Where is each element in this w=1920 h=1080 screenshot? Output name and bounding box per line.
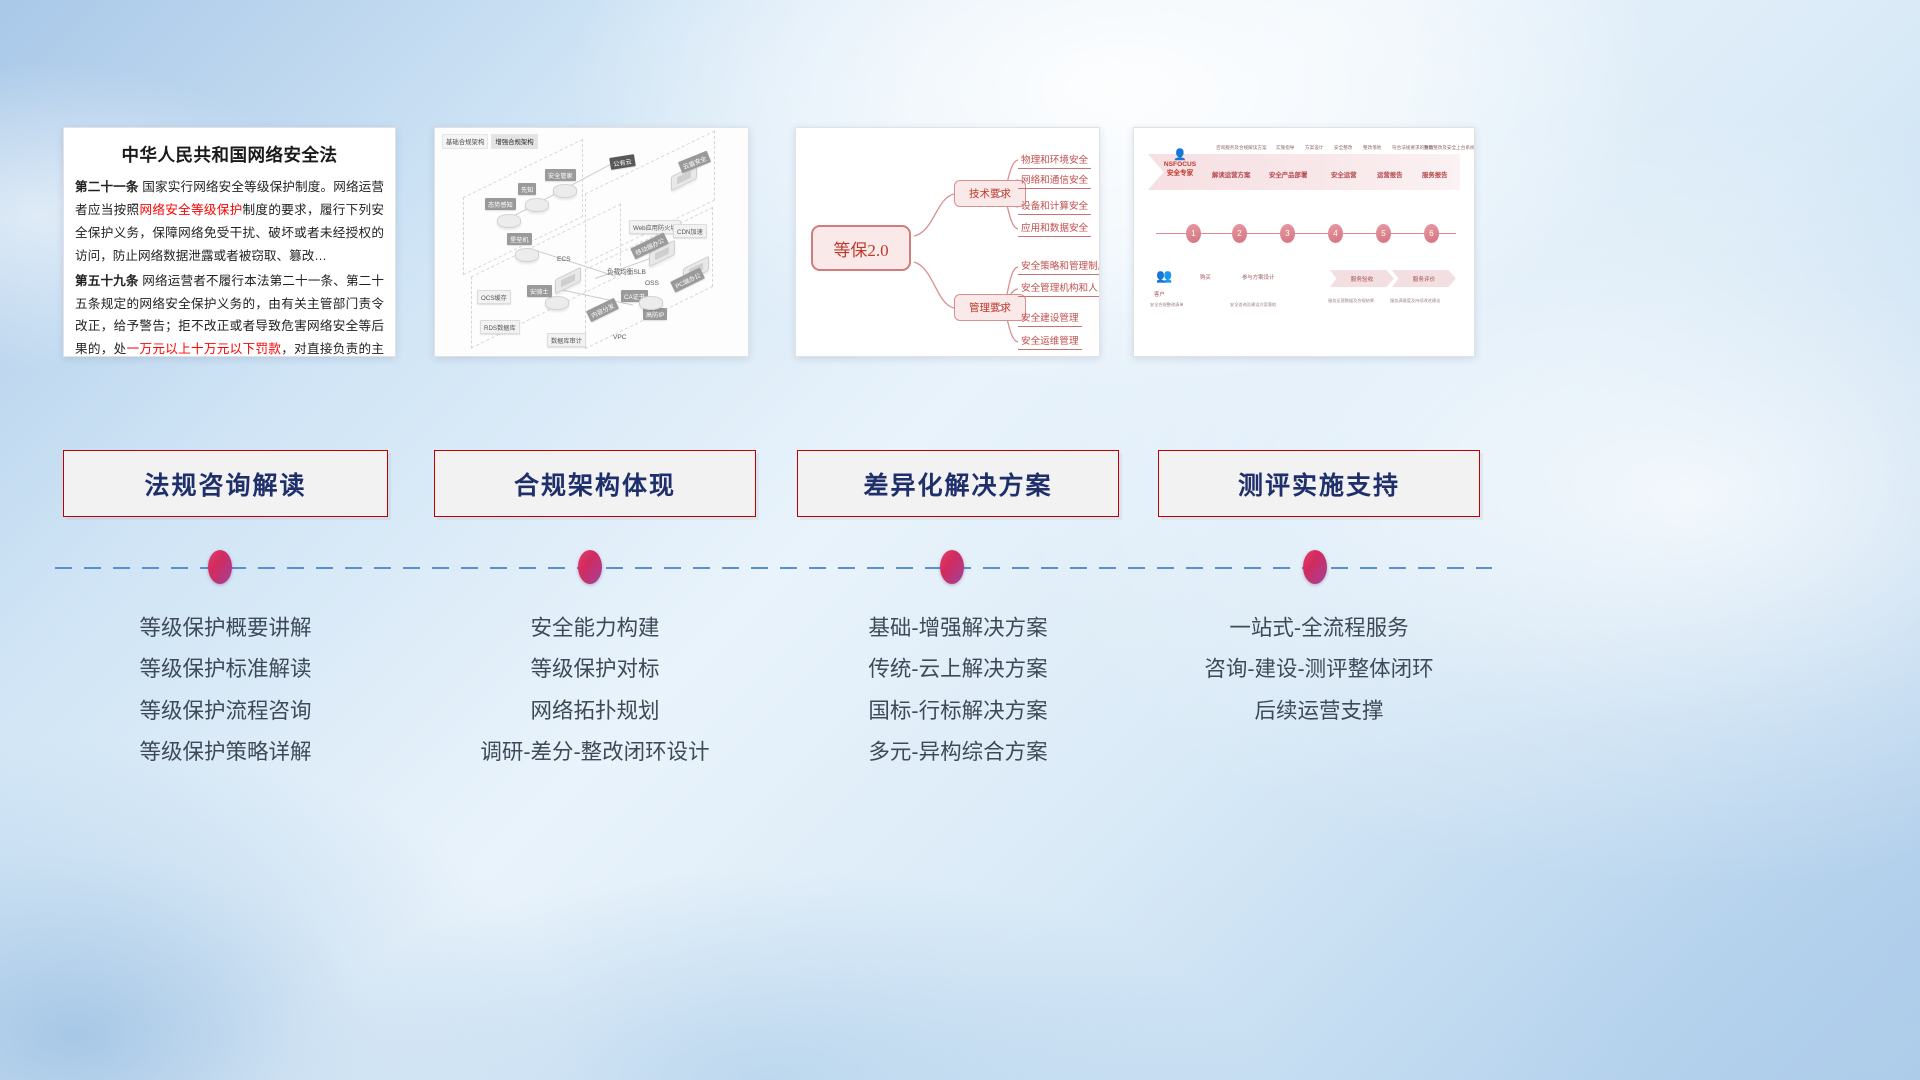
roadmap-bottom-sub-2: 安全咨询及建设方案落地 bbox=[1230, 302, 1276, 308]
law-body: 第二十一条 国家实行网络安全等级保护制度。网络运营者应当按照网络安全等级保护制度… bbox=[64, 176, 395, 357]
card-mindmap-dengbao[interactable]: 等保2.0 技术要求 管理要求 物理和环境安全 网络和通信安全 设备和计算安全 … bbox=[795, 127, 1100, 357]
mindmap-leaf-physical-env: 物理和环境安全 bbox=[1018, 152, 1091, 169]
title-box-differentiated-solution[interactable]: 差异化解决方案 bbox=[797, 450, 1119, 517]
roadmap-top-label-7: 数据整改及安全上台系统集成整改 bbox=[1424, 145, 1475, 151]
mindmap-leaf-construction: 安全建设管理 bbox=[1018, 310, 1082, 327]
person-icon: 👤 bbox=[1156, 150, 1204, 161]
roadmap-top-label-5: 整改落地 bbox=[1363, 145, 1381, 151]
roadmap-axis bbox=[1156, 233, 1456, 234]
mindmap-leaf-device-compute: 设备和计算安全 bbox=[1018, 198, 1091, 215]
iso-label-db-audit: 数据库审计 bbox=[547, 333, 586, 347]
mindmap-diagram: 等保2.0 技术要求 管理要求 物理和环境安全 网络和通信安全 设备和计算安全 … bbox=[796, 128, 1099, 356]
list-item: 调研-差分-整改闭环设计 bbox=[434, 732, 756, 773]
timeline-node-3[interactable] bbox=[940, 550, 964, 584]
mindmap-leaf-app-data: 应用和数据安全 bbox=[1018, 220, 1091, 237]
iso-label-situational-awareness: 态势感知 bbox=[485, 198, 516, 210]
law-article-59: 第五十九条 网络运营者不履行本法第二十一条、第二十五条规定的网络安全保护义务的，… bbox=[75, 270, 384, 357]
roadmap-bottom-sub-4: 服务满意度及持续改进建议 bbox=[1390, 298, 1440, 304]
iso-label-xianzhi: 先知 bbox=[518, 183, 536, 195]
roadmap-client-label: 客户 bbox=[1154, 290, 1165, 298]
architecture-diagram: 基础合规架构 增强合规架构 公有云 安全管家 先知 态势感知 堡垒机 bbox=[435, 128, 748, 356]
law-title: 中华人民共和国网络安全法 bbox=[64, 142, 395, 167]
roadmap-top-label-3: 方案设计 bbox=[1305, 145, 1323, 151]
timeline-node-2[interactable] bbox=[578, 550, 602, 584]
mindmap-dot-management bbox=[997, 305, 1003, 311]
roadmap-bottom-label-1: 购买 bbox=[1200, 273, 1211, 281]
iso-shape-situational-awareness bbox=[497, 214, 521, 228]
iso-label-bastion: 堡垒机 bbox=[507, 233, 532, 245]
roadmap-brand: 👤 NSFOCUS 安全专家 bbox=[1156, 150, 1204, 179]
title-box-label-1: 法规咨询解读 bbox=[144, 466, 306, 502]
iso-label-ecs: ECS bbox=[557, 256, 571, 263]
roadmap-step-4[interactable]: 4 bbox=[1328, 224, 1343, 243]
roadmap-chevron-2[interactable]: 服务评价 bbox=[1392, 270, 1456, 287]
roadmap-col-title-2: 安全产品部署 bbox=[1269, 170, 1307, 179]
law-article-21: 第二十一条 国家实行网络安全等级保护制度。网络运营者应当按照网络安全等级保护制度… bbox=[75, 176, 384, 268]
law-article-21-highlight: 网络安全等级保护 bbox=[139, 203, 242, 217]
roadmap-diagram: 👤 NSFOCUS 安全专家 咨询服务及合规解读方案 实施指导 方案设计 安全整… bbox=[1134, 128, 1474, 356]
mindmap-leaf-policy-system: 安全策略和管理制度 bbox=[1018, 258, 1100, 275]
roadmap-top-label-2: 实施指导 bbox=[1276, 145, 1294, 151]
timeline-node-4[interactable] bbox=[1303, 550, 1327, 584]
iso-shape-bastion bbox=[515, 248, 539, 262]
roadmap-col-title-3: 安全运营 bbox=[1331, 170, 1357, 179]
mindmap-branch-technical[interactable]: 技术要求 bbox=[954, 180, 1026, 207]
list-item: 等级保护流程咨询 bbox=[63, 691, 388, 732]
law-article-59-label: 第五十九条 bbox=[75, 274, 139, 288]
list-item: 等级保护标准解读 bbox=[63, 649, 388, 690]
title-box-label-4: 测评实施支持 bbox=[1238, 466, 1400, 502]
roadmap-bottom-sub-3: 服务运营数据及合规结果 bbox=[1328, 298, 1374, 304]
list-item: 等级保护策略详解 bbox=[63, 732, 388, 773]
mindmap-branch-management[interactable]: 管理要求 bbox=[954, 294, 1026, 321]
list-item: 一站式-全流程服务 bbox=[1158, 608, 1480, 649]
client-icon: 👥 bbox=[1156, 268, 1172, 284]
list-item: 等级保护概要讲解 bbox=[63, 608, 388, 649]
iso-label-high-defense-ip: 高防IP bbox=[643, 308, 667, 320]
iso-label-rds-db: RDS数据库 bbox=[480, 320, 520, 334]
roadmap-bottom-sub-1: 安全合规整改清单 bbox=[1150, 302, 1184, 308]
list-item: 基础-增强解决方案 bbox=[797, 608, 1119, 649]
iso-label-cdn-accel: CDN加速 bbox=[673, 224, 707, 238]
card-nsfocus-roadmap[interactable]: 👤 NSFOCUS 安全专家 咨询服务及合规解读方案 实施指导 方案设计 安全整… bbox=[1133, 127, 1475, 357]
roadmap-bottom-label-2: 参与方案设计 bbox=[1242, 273, 1274, 281]
mindmap-dot-technical bbox=[997, 191, 1003, 197]
title-box-regulation-consulting[interactable]: 法规咨询解读 bbox=[63, 450, 388, 517]
iso-shape-security-butler bbox=[553, 184, 577, 198]
iso-label-security-butler: 安全管家 bbox=[545, 169, 576, 181]
mindmap-root-node[interactable]: 等保2.0 bbox=[811, 225, 911, 271]
list-item: 国标-行标解决方案 bbox=[797, 691, 1119, 732]
list-item: 多元-异构综合方案 bbox=[797, 732, 1119, 773]
list-item: 后续运营支撑 bbox=[1158, 691, 1480, 732]
title-box-compliance-architecture[interactable]: 合规架构体现 bbox=[434, 450, 756, 517]
roadmap-step-3[interactable]: 3 bbox=[1280, 224, 1295, 243]
roadmap-top-label-1: 咨询服务及合规解读方案 bbox=[1216, 145, 1267, 151]
roadmap-col-title-5: 服务报告 bbox=[1422, 170, 1448, 179]
roadmap-col-title-1: 解读运营方案 bbox=[1212, 170, 1250, 179]
card-compliance-architecture[interactable]: 基础合规架构 增强合规架构 公有云 安全管家 先知 态势感知 堡垒机 bbox=[434, 127, 749, 357]
iso-shape-agent bbox=[545, 296, 569, 310]
iso-shape-oss bbox=[639, 296, 663, 310]
column-list-2: 安全能力构建 等级保护对标 网络拓扑规划 调研-差分-整改闭环设计 bbox=[434, 608, 756, 773]
roadmap-brand-line1: NSFOCUS bbox=[1156, 161, 1204, 170]
list-item: 等级保护对标 bbox=[434, 649, 756, 690]
roadmap-step-2[interactable]: 2 bbox=[1232, 224, 1247, 243]
column-list-4: 一站式-全流程服务 咨询-建设-测评整体闭环 后续运营支撑 bbox=[1158, 608, 1480, 732]
iso-label-slb: 负载均衡SLB bbox=[607, 266, 646, 276]
list-item: 传统-云上解决方案 bbox=[797, 649, 1119, 690]
law-article-59-highlight-1: 一万元以上十万元以下罚款 bbox=[127, 342, 282, 356]
architecture-tab-basic[interactable]: 基础合规架构 bbox=[442, 134, 488, 149]
roadmap-step-5[interactable]: 5 bbox=[1376, 224, 1391, 243]
iso-label-ocs-cache: OCS缓存 bbox=[477, 290, 511, 304]
timeline-node-1[interactable] bbox=[208, 550, 232, 584]
column-list-3: 基础-增强解决方案 传统-云上解决方案 国标-行标解决方案 多元-异构综合方案 bbox=[797, 608, 1119, 773]
title-box-label-3: 差异化解决方案 bbox=[863, 466, 1052, 502]
title-box-label-2: 合规架构体现 bbox=[514, 466, 676, 502]
iso-label-agent: 安骑士 bbox=[527, 285, 552, 297]
list-item: 网络拓扑规划 bbox=[434, 691, 756, 732]
law-article-21-label: 第二十一条 bbox=[75, 180, 139, 194]
iso-shape-xianzhi bbox=[525, 198, 549, 212]
card-cybersecurity-law[interactable]: 中华人民共和国网络安全法 第二十一条 国家实行网络安全等级保护制度。网络运营者应… bbox=[63, 127, 396, 357]
roadmap-brand-line2: 安全专家 bbox=[1156, 170, 1204, 179]
mindmap-leaf-network-comm: 网络和通信安全 bbox=[1018, 172, 1091, 189]
roadmap-step-1[interactable]: 1 bbox=[1186, 224, 1201, 243]
iso-label-vpc: VPC bbox=[613, 334, 627, 341]
architecture-tab-enhanced[interactable]: 增强合规架构 bbox=[491, 134, 537, 149]
roadmap-step-6[interactable]: 6 bbox=[1424, 224, 1439, 243]
roadmap-col-title-4: 运营报告 bbox=[1377, 170, 1403, 179]
list-item: 安全能力构建 bbox=[434, 608, 756, 649]
mindmap-leaf-org-personnel: 安全管理机构和人员 bbox=[1018, 280, 1100, 297]
roadmap-chevron-1[interactable]: 服务验收 bbox=[1330, 270, 1394, 287]
iso-label-public-cloud: 公有云 bbox=[609, 154, 635, 170]
list-item: 咨询-建设-测评整体闭环 bbox=[1158, 649, 1480, 690]
architecture-tabs[interactable]: 基础合规架构 增强合规架构 bbox=[442, 134, 538, 149]
roadmap-top-label-4: 安全整改 bbox=[1334, 145, 1352, 151]
mindmap-leaf-operations: 安全运维管理 bbox=[1018, 333, 1082, 350]
timeline-dashed-line bbox=[55, 567, 1492, 569]
title-box-assessment-support[interactable]: 测评实施支持 bbox=[1158, 450, 1480, 517]
iso-label-oss: OSS bbox=[645, 280, 659, 287]
column-list-1: 等级保护概要讲解 等级保护标准解读 等级保护流程咨询 等级保护策略详解 bbox=[63, 608, 388, 773]
